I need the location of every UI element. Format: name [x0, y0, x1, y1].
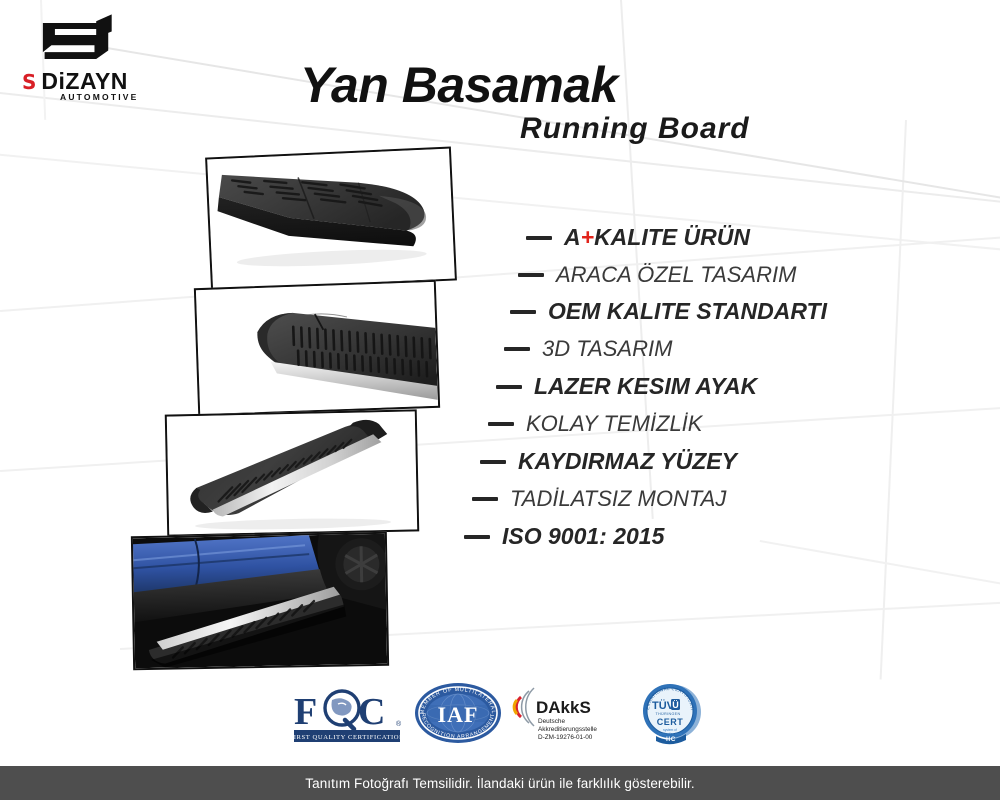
brand-s-letter: S	[22, 72, 35, 92]
product-image-tread-detail	[194, 280, 440, 416]
feature-label: KAYDIRMAZ YÜZEY	[518, 448, 737, 475]
iaf-title: IAF	[438, 702, 479, 727]
brand-name: DiZAYN	[41, 70, 128, 93]
feature-dash-icon	[526, 236, 552, 240]
tuv-cert-logo-icon: INTERNATIONAL CERTIFICATION TÜV Ü THÜRIN…	[630, 680, 712, 746]
feature-list: A+KALITE ÜRÜN ARACA ÖZEL TASARIM OEM KAL…	[460, 222, 930, 562]
feature-dash-icon	[472, 497, 498, 501]
running-board-full-view-illustration	[167, 411, 417, 534]
cert-badge-tuv-cert: INTERNATIONAL CERTIFICATION TÜV Ü THÜRIN…	[630, 680, 712, 746]
dakks-logo-icon: DAkkS Deutsche Akkreditierungsstelle D-Z…	[512, 680, 624, 746]
feature-label: ARACA ÖZEL TASARIM	[556, 262, 796, 288]
feature-item-araca-ozel-tasarim: ARACA ÖZEL TASARIM	[518, 262, 796, 288]
feature-item-3d-tasarim: 3D TASARIM	[504, 336, 672, 362]
s-monogram-icon	[36, 14, 122, 68]
feature-item-oem-kalite-standarti: OEM KALITE STANDARTI	[510, 298, 827, 325]
dakks-line1: Deutsche	[538, 718, 565, 725]
svg-text:Ü: Ü	[672, 700, 679, 710]
product-image-end-detail	[205, 146, 457, 291]
feature-item-iso-9001-2015: ISO 9001: 2015	[464, 523, 664, 550]
dakks-line3: D-ZM-19276-01-00	[538, 734, 593, 741]
feature-label: OEM KALITE STANDARTI	[548, 298, 827, 325]
page-subtitle: Running Board	[520, 112, 840, 146]
feature-dash-icon	[510, 310, 536, 314]
feature-plus-accent: +	[581, 224, 594, 250]
advertisement-canvas: S DiZAYN AUTOMOTIVE Yan Basamak Running …	[0, 0, 1000, 800]
feature-dash-icon	[480, 460, 506, 464]
feature-dash-icon	[488, 422, 514, 426]
cert-badge-dakks: DAkkS Deutsche Akkreditierungsstelle D-Z…	[512, 680, 624, 746]
running-board-tread-detail-illustration	[196, 282, 438, 414]
feature-dash-icon	[464, 535, 490, 539]
feature-item-a-plus-kalite-urun: A+KALITE ÜRÜN	[526, 224, 750, 251]
fqc-logo-icon: F C ® FIRST QUALITY CERTIFICATION	[288, 680, 406, 746]
feature-item-tadilatsiz-montaj: TADİLATSIZ MONTAJ	[472, 486, 726, 512]
running-board-end-detail-illustration	[207, 149, 455, 290]
feature-label: KOLAY TEMİZLİK	[526, 411, 702, 437]
brand-wordmark: S DiZAYN	[22, 70, 128, 93]
fqc-caption: FIRST QUALITY CERTIFICATION	[289, 734, 404, 741]
dakks-title: DAkkS	[536, 698, 591, 717]
dakks-line2: Akkreditierungsstelle	[538, 726, 597, 733]
feature-text-post: KALITE ÜRÜN	[594, 224, 750, 250]
feature-label: TADİLATSIZ MONTAJ	[510, 486, 726, 512]
feature-dash-icon	[504, 347, 530, 351]
fqc-title: F	[294, 691, 317, 733]
feature-label: LAZER KESIM AYAK	[534, 373, 757, 400]
feature-item-kolay-temizlik: KOLAY TEMİZLİK	[488, 411, 702, 437]
product-image-full-view	[165, 409, 419, 536]
tuv-cert-text: CERT	[657, 717, 684, 727]
product-image-mounted-vehicle	[131, 532, 389, 670]
tuv-bottom-tab: IIC	[666, 736, 676, 743]
tuv-subtitle: THÜRINGEN	[656, 712, 681, 716]
cert-badge-iaf: IAF MEMBER OF MULTILATERAL RECOGNITION A…	[412, 680, 504, 746]
cert-badge-fqc: F C ® FIRST QUALITY CERTIFICATION	[288, 680, 406, 746]
feature-label: ISO 9001: 2015	[502, 523, 664, 550]
feature-item-lazer-kesim-ayak: LAZER KESIM AYAK	[496, 373, 757, 400]
feature-dash-icon	[496, 385, 522, 389]
footer-disclaimer-bar: Tanıtım Fotoğrafı Temsilidir. İlandaki ü…	[0, 766, 1000, 800]
running-board-mounted-vehicle-illustration	[133, 534, 387, 668]
svg-text:C: C	[358, 691, 385, 733]
brand-tagline: AUTOMOTIVE	[60, 92, 139, 102]
page-title: Yan Basamak	[300, 56, 720, 114]
feature-item-kaydirmaz-yuzey: KAYDIRMAZ YÜZEY	[480, 448, 737, 475]
footer-disclaimer-text: Tanıtım Fotoğrafı Temsilidir. İlandaki ü…	[305, 776, 695, 791]
feature-text-pre: A	[564, 224, 581, 250]
brand-logo: S DiZAYN AUTOMOTIVE	[22, 14, 172, 102]
iaf-logo-icon: IAF MEMBER OF MULTILATERAL RECOGNITION A…	[412, 680, 504, 746]
svg-text:®: ®	[396, 720, 402, 728]
feature-dash-icon	[518, 273, 544, 277]
certification-badges: F C ® FIRST QUALITY CERTIFICATION	[288, 680, 712, 748]
feature-label: 3D TASARIM	[542, 336, 672, 362]
